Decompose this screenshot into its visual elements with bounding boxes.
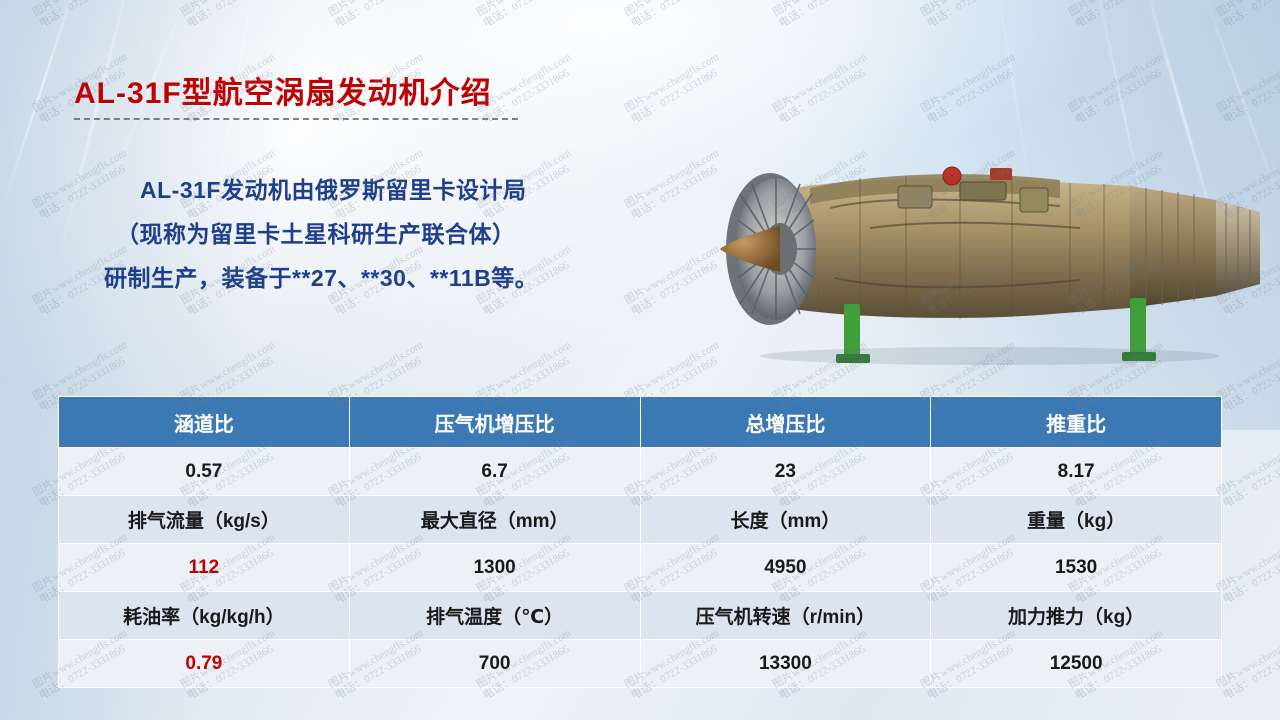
watermark-text: 图片www.chengfls.com 电话：0722-3331866 (1215, 627, 1280, 703)
table-cell-highlight: 112 (59, 544, 350, 592)
page-title: AL-31F型航空涡扇发动机介绍 (74, 68, 492, 112)
table-cell: 12500 (931, 640, 1222, 688)
table-cell: 加力推力（kg） (931, 592, 1222, 640)
intro-line-2: （现称为留里卡土星科研生产联合体） (116, 212, 624, 256)
engine-photo (660, 128, 1270, 368)
table-row: 112 1300 4950 1530 (59, 544, 1222, 592)
table-cell: 排气流量（kg/s） (59, 496, 350, 544)
table-cell: 耗油率（kg/kg/h） (59, 592, 350, 640)
table-cell: 排气温度（℃） (349, 592, 640, 640)
slide-canvas: AL-31F型航空涡扇发动机介绍 AL-31F发动机由俄罗斯留里卡设计局 （现称… (0, 0, 1280, 720)
table-cell: 23 (640, 448, 931, 496)
table-row: 0.79 700 13300 12500 (59, 640, 1222, 688)
table-row: 0.57 6.7 23 8.17 (59, 448, 1222, 496)
table-cell: 0.57 (59, 448, 350, 496)
table-cell: 4950 (640, 544, 931, 592)
table-cell: 6.7 (349, 448, 640, 496)
table-cell: 重量（kg） (931, 496, 1222, 544)
table-row: 耗油率（kg/kg/h） 排气温度（℃） 压气机转速（r/min） 加力推力（k… (59, 592, 1222, 640)
table-header-cell: 推重比 (931, 397, 1222, 448)
table-header-cell: 压气机增压比 (349, 397, 640, 448)
table-cell: 1530 (931, 544, 1222, 592)
table-cell: 8.17 (931, 448, 1222, 496)
table-header-row: 涵道比 压气机增压比 总增压比 推重比 (59, 397, 1222, 448)
table-cell: 长度（mm） (640, 496, 931, 544)
table-header-cell: 涵道比 (59, 397, 350, 448)
table-cell: 13300 (640, 640, 931, 688)
title-divider (74, 118, 518, 120)
table-cell: 1300 (349, 544, 640, 592)
intro-line-3: 研制生产，装备于**27、**30、**11B等。 (104, 256, 624, 300)
table-cell: 700 (349, 640, 640, 688)
table-cell-highlight: 0.79 (59, 640, 350, 688)
watermark-text: 图片www.chengfls.com 电话：0722-3331866 (1215, 531, 1280, 607)
intro-line-1: AL-31F发动机由俄罗斯留里卡设计局 (140, 168, 624, 212)
watermark-text: 图片www.chengfls.com 电话：0722-3331866 (1215, 435, 1280, 511)
spec-table-wrapper: 涵道比 压气机增压比 总增压比 推重比 0.57 6.7 23 8.17 排气流… (58, 396, 1222, 688)
table-header-cell: 总增压比 (640, 397, 931, 448)
table-cell: 最大直径（mm） (349, 496, 640, 544)
spec-table: 涵道比 压气机增压比 总增压比 推重比 0.57 6.7 23 8.17 排气流… (58, 396, 1222, 688)
table-row: 排气流量（kg/s） 最大直径（mm） 长度（mm） 重量（kg） (59, 496, 1222, 544)
intro-paragraph: AL-31F发动机由俄罗斯留里卡设计局 （现称为留里卡土星科研生产联合体） 研制… (104, 168, 624, 300)
table-cell: 压气机转速（r/min） (640, 592, 931, 640)
